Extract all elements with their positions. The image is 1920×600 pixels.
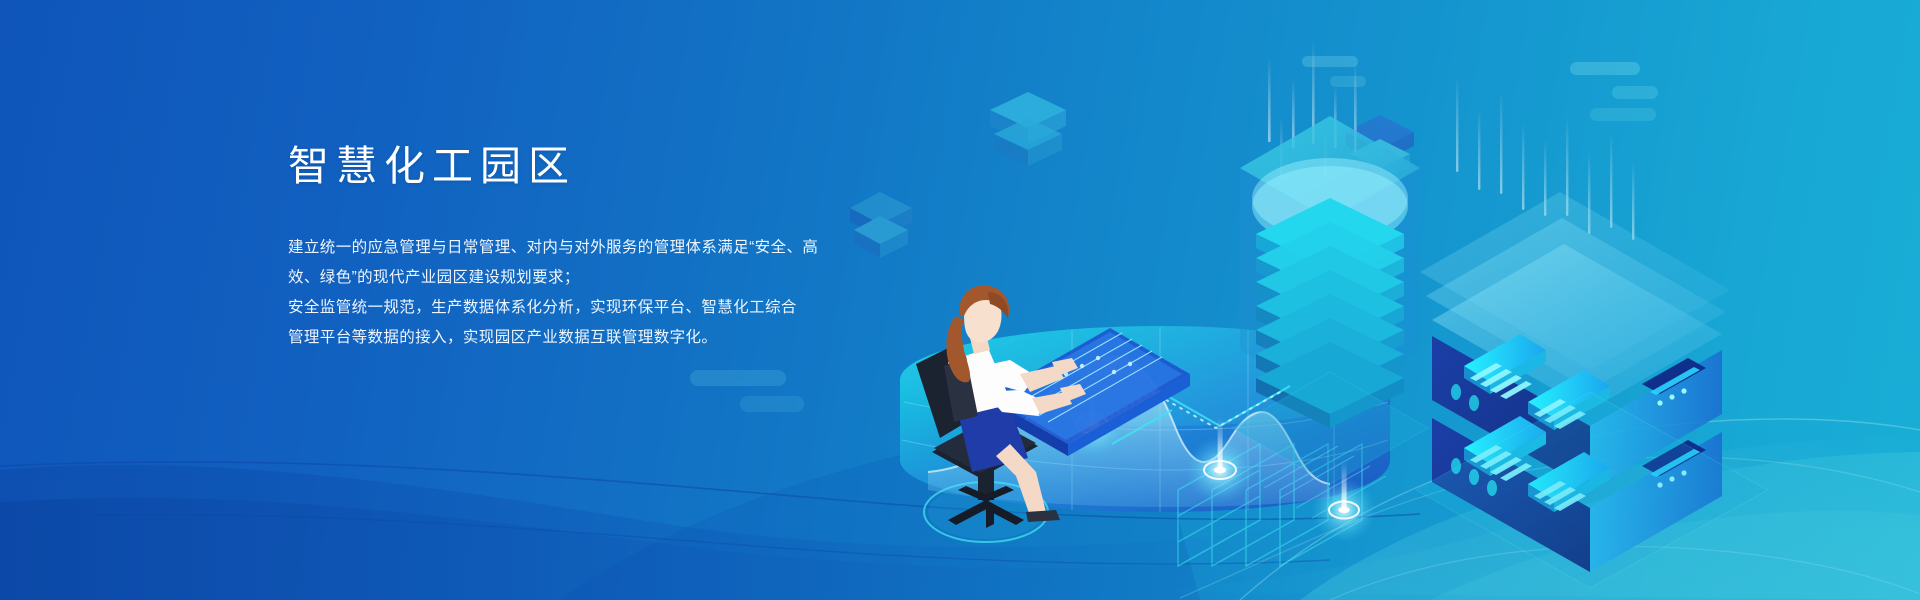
page-title: 智慧化工园区 <box>288 146 908 187</box>
description-line: 管理平台等数据的接入，实现园区产业数据互联管理数字化。 <box>288 323 908 353</box>
banner-description: 建立统一的应急管理与日常管理、对内与对外服务的管理体系满足“安全、高 效、绿色”… <box>288 233 908 353</box>
smart-park-illustration <box>860 20 1920 600</box>
decorative-dash-marks-bottom-left <box>690 370 804 412</box>
hero-banner: 智慧化工园区 建立统一的应急管理与日常管理、对内与对外服务的管理体系满足“安全、… <box>0 0 1920 600</box>
description-line: 建立统一的应急管理与日常管理、对内与对外服务的管理体系满足“安全、高 <box>288 233 908 263</box>
stacked-cylinder-data-tower <box>1232 116 1428 484</box>
banner-copy: 智慧化工园区 建立统一的应急管理与日常管理、对内与对外服务的管理体系满足“安全、… <box>288 146 908 353</box>
floating-cube-cluster-left <box>990 92 1066 166</box>
person-shoe <box>1026 510 1060 522</box>
description-line: 效、绿色”的现代产业园区建设规划要求； <box>288 263 908 293</box>
rack-base-plate <box>1416 392 1768 588</box>
description-line: 安全监管统一规范，生产数据体系化分析，实现环保平台、智慧化工综合 <box>288 293 908 323</box>
